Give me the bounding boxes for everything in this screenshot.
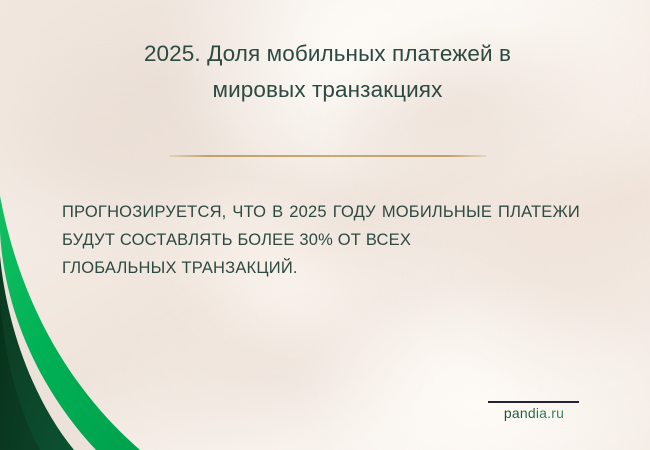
body-paragraph-last-line: ГЛОБАЛЬНЫХ ТРАНЗАКЦИЙ. [62,254,580,282]
footer-brand-label: pandia.ru [480,405,588,421]
page-title: 2025. Доля мобильных платежей в мировых … [95,36,560,108]
gold-divider [170,155,486,157]
body-paragraph-main: ПРОГНОЗИРУЕТСЯ, ЧТО В 2025 ГОДУ МОБИЛЬНЫ… [62,203,580,249]
body-paragraph: ПРОГНОЗИРУЕТСЯ, ЧТО В 2025 ГОДУ МОБИЛЬНЫ… [62,198,580,282]
slide-canvas: 2025. Доля мобильных платежей в мировых … [0,0,650,450]
footer-rule [488,401,579,403]
